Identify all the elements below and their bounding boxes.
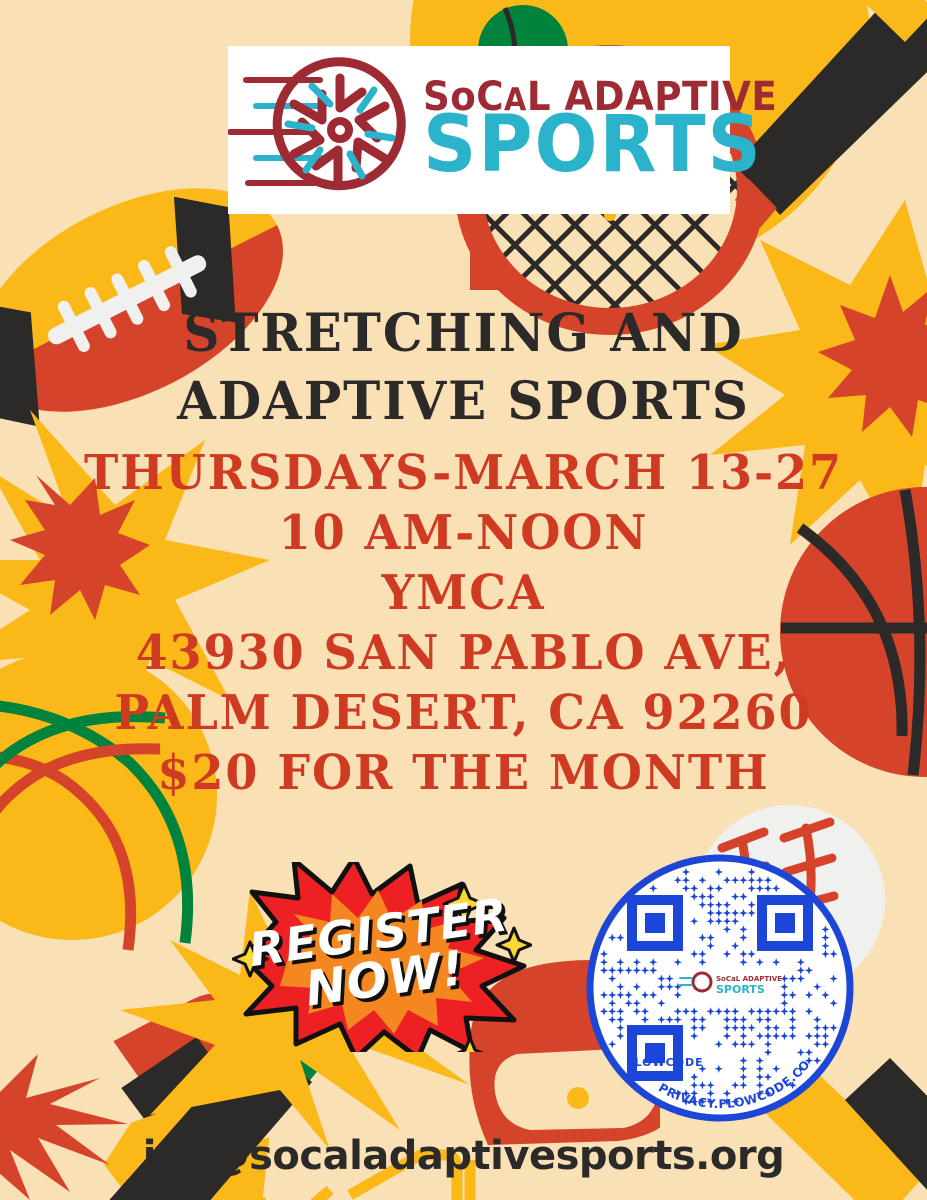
wheelchair-wheel-speed-icon	[228, 46, 423, 214]
flyer-poster: SoCAL ADAPTIVE SPORTS STRETCHING AND ADA…	[0, 0, 927, 1200]
poster-copy: STRETCHING AND ADAPTIVE SPORTS THURSDAYS…	[0, 300, 927, 803]
event-address-line-2: PALM DESERT, CA 92260	[19, 683, 909, 743]
logo-line-sports: SPORTS	[423, 111, 785, 180]
event-venue: YMCA	[19, 563, 909, 623]
event-address-line-1: 43930 SAN PABLO AVE,	[19, 623, 909, 683]
event-price: $20 FOR THE MONTH	[19, 743, 909, 803]
headline-line-1: STRETCHING AND	[19, 300, 909, 368]
register-now-badge[interactable]: REGISTER NOW!	[232, 862, 532, 1052]
svg-text:SPORTS: SPORTS	[716, 983, 765, 996]
brand-logo-card: SoCAL ADAPTIVE SPORTS	[228, 46, 730, 214]
event-details: THURSDAYS-MARCH 13-27 10 AM-NOON YMCA 43…	[0, 443, 927, 803]
event-dates: THURSDAYS-MARCH 13-27	[19, 443, 909, 503]
qr-brand-label: FLOWCODE	[626, 1056, 704, 1069]
event-time: 10 AM-NOON	[19, 503, 909, 563]
contact-email[interactable]: joe@socaladaptivesports.org	[0, 1133, 927, 1179]
flowcode-qr-code[interactable]: SoCaL ADAPTIVE SPORTS PRIVACY.FLOWCODE.C…	[584, 852, 856, 1124]
svg-text:SoCaL ADAPTIVE: SoCaL ADAPTIVE	[716, 975, 782, 983]
headline-line-2: ADAPTIVE SPORTS	[19, 368, 909, 436]
